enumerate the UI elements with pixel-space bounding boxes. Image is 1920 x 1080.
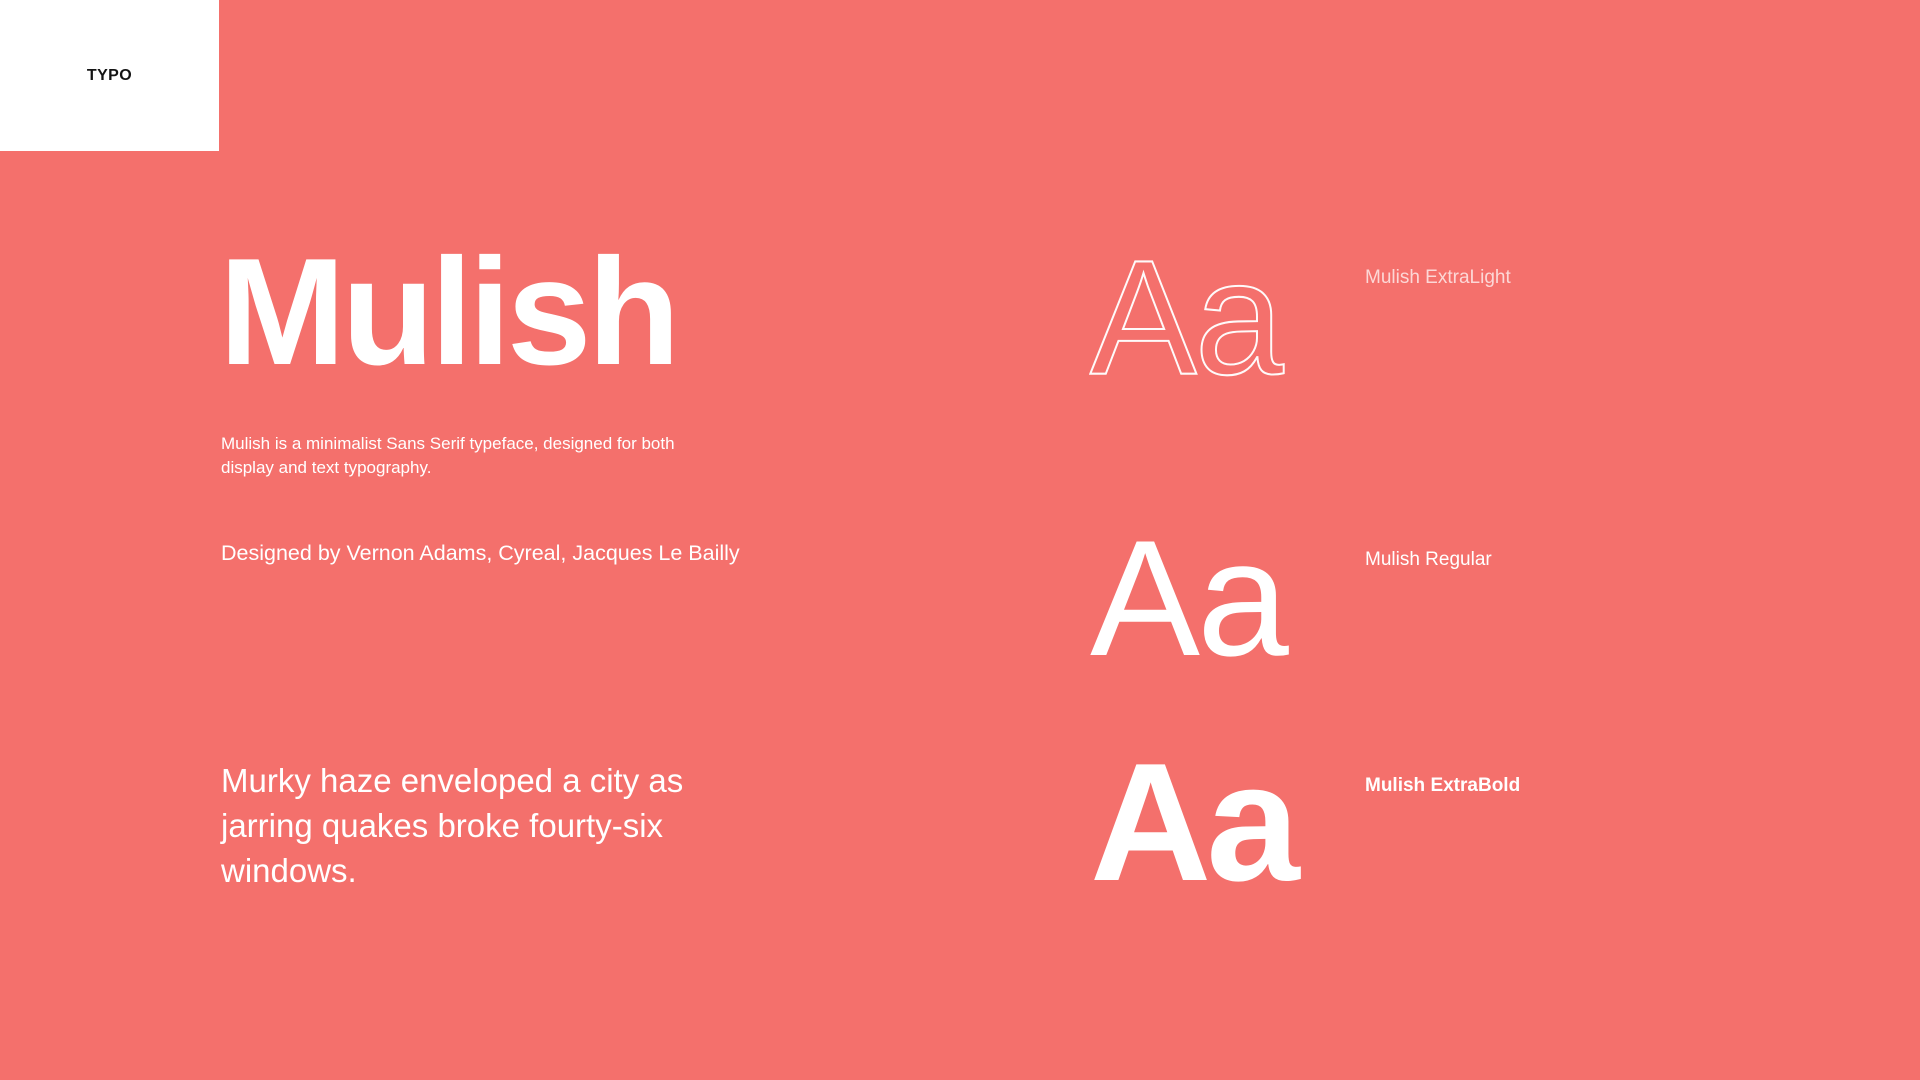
glyph-sample-extrabold: Aa (1090, 738, 1295, 906)
glyph-sample-regular: Aa (1090, 516, 1286, 681)
weight-label-extrabold: Mulish ExtraBold (1365, 776, 1520, 795)
typeface-description: Mulish is a minimalist Sans Serif typefa… (221, 432, 691, 480)
weight-specimen-column: Aa Mulish ExtraLight Aa Mulish Regular A… (1080, 0, 1920, 1080)
typeface-designer-credit: Designed by Vernon Adams, Cyreal, Jacque… (221, 540, 740, 568)
brand-label: TYPO (87, 68, 132, 84)
typeface-pangram-sample: Murky haze enveloped a city as jarring q… (221, 758, 741, 894)
typeface-info-column: Mulish Mulish is a minimalist Sans Serif… (219, 0, 1119, 1080)
weight-label-regular: Mulish Regular (1365, 550, 1492, 569)
weight-label-extralight: Mulish ExtraLight (1365, 268, 1511, 287)
typography-specimen-slide: TYPO Mulish Mulish is a minimalist Sans … (0, 0, 1920, 1080)
glyph-sample-extralight: Aa (1090, 236, 1282, 399)
brand-tab: TYPO (0, 0, 219, 151)
weight-specimen-extrabold: Aa Mulish ExtraBold (1080, 738, 1920, 968)
typeface-name-heading: Mulish (219, 236, 676, 388)
weight-specimen-regular: Aa Mulish Regular (1080, 516, 1920, 746)
weight-specimen-extralight: Aa Mulish ExtraLight (1080, 236, 1920, 466)
